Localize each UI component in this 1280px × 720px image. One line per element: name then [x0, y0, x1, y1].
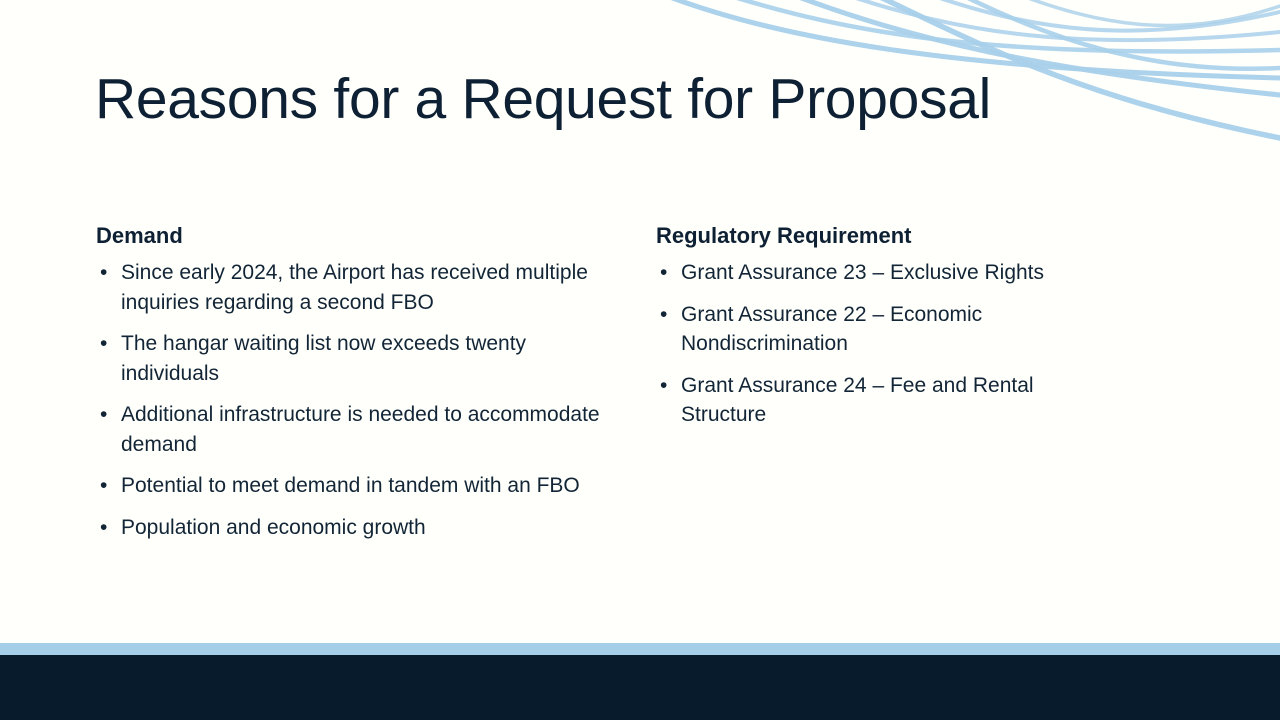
bullet-list-regulatory-requirement: • Grant Assurance 23 – Exclusive Rights …: [656, 258, 1108, 430]
bullet-dot-icon: •: [660, 300, 667, 330]
list-item: • The hangar waiting list now exceeds tw…: [96, 329, 624, 388]
list-item: • Grant Assurance 22 – Economic Nondiscr…: [656, 300, 1108, 359]
bullet-dot-icon: •: [100, 400, 107, 430]
list-item-text: Since early 2024, the Airport has receiv…: [121, 261, 588, 314]
list-item-text: The hangar waiting list now exceeds twen…: [121, 332, 526, 385]
bullet-dot-icon: •: [100, 258, 107, 288]
column-heading-demand: Demand: [96, 222, 624, 250]
bullet-dot-icon: •: [660, 371, 667, 401]
list-item-text: Additional infrastructure is needed to a…: [121, 403, 600, 456]
list-item: • Population and economic growth: [96, 513, 624, 543]
list-item-text: Population and economic growth: [121, 516, 426, 539]
list-item: • Grant Assurance 24 – Fee and Rental St…: [656, 371, 1108, 430]
bullet-dot-icon: •: [100, 513, 107, 543]
list-item: • Additional infrastructure is needed to…: [96, 400, 624, 459]
bullet-list-demand: • Since early 2024, the Airport has rece…: [96, 258, 624, 542]
list-item: • Potential to meet demand in tandem wit…: [96, 471, 624, 501]
footer-band: [0, 655, 1280, 720]
slide-title: Reasons for a Request for Proposal: [95, 66, 995, 132]
content-column-demand: Demand • Since early 2024, the Airport h…: [96, 222, 624, 542]
column-heading-regulatory-requirement: Regulatory Requirement: [656, 222, 1108, 250]
bullet-dot-icon: •: [100, 329, 107, 359]
list-item-text: Grant Assurance 24 – Fee and Rental Stru…: [681, 374, 1034, 427]
footer-accent-band: [0, 643, 1280, 655]
bullet-dot-icon: •: [100, 471, 107, 501]
list-item-text: Grant Assurance 23 – Exclusive Rights: [681, 261, 1044, 284]
list-item: • Since early 2024, the Airport has rece…: [96, 258, 624, 317]
content-column-regulatory-requirement: Regulatory Requirement • Grant Assurance…: [656, 222, 1108, 430]
list-item-text: Potential to meet demand in tandem with …: [121, 474, 580, 497]
list-item-text: Grant Assurance 22 – Economic Nondiscrim…: [681, 303, 982, 356]
slide-canvas: Reasons for a Request for Proposal Deman…: [0, 0, 1280, 720]
list-item: • Grant Assurance 23 – Exclusive Rights: [656, 258, 1108, 288]
bullet-dot-icon: •: [660, 258, 667, 288]
